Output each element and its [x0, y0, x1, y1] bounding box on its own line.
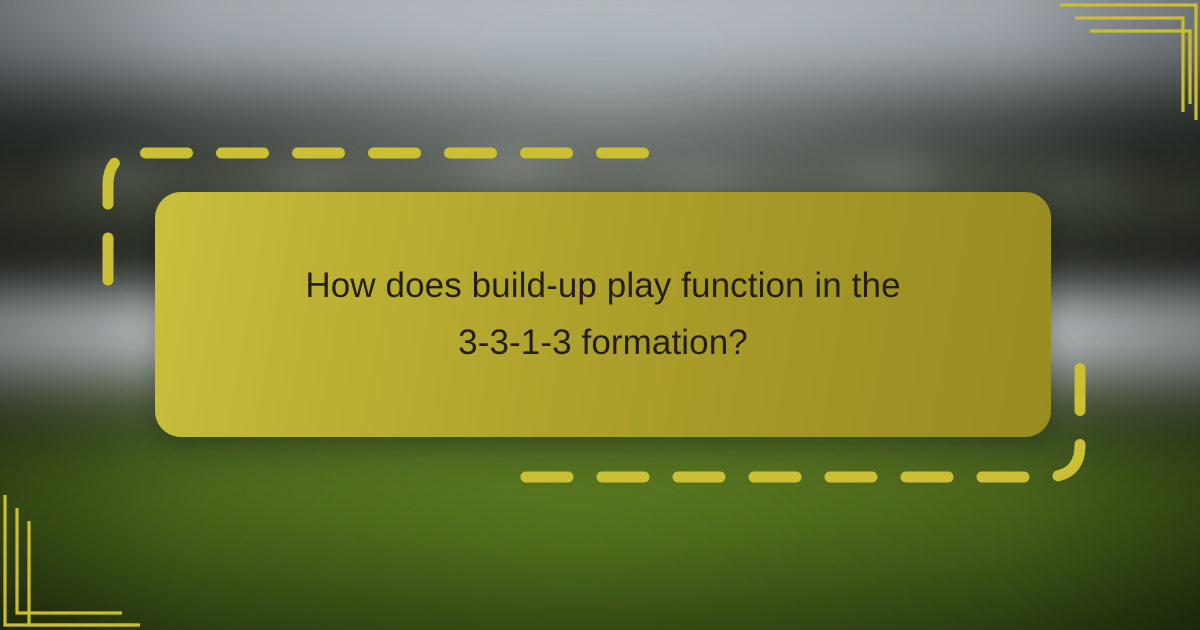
question-text: How does build-up play function in the 3…	[209, 258, 997, 371]
page-canvas: How does build-up play function in the 3…	[0, 0, 1200, 630]
question-card: How does build-up play function in the 3…	[155, 192, 1051, 437]
question-line-2: 3-3-1-3 formation?	[458, 323, 748, 362]
question-line-1: How does build-up play function in the	[305, 266, 900, 305]
